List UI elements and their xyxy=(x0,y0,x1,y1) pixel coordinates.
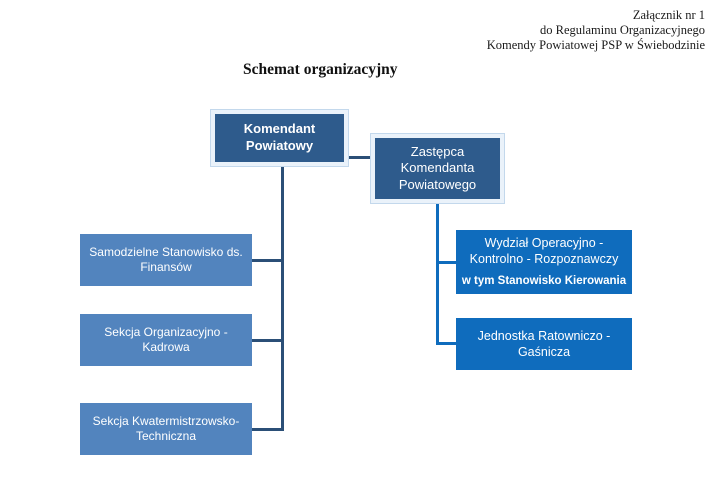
node-operacyjny-sub-line: w tym Stanowisko Kierowania xyxy=(462,274,626,289)
node-komendant-line-2: Powiatowy xyxy=(246,138,313,155)
header-note-line-3: Komendy Powiatowej PSP w Świebodzinie xyxy=(487,38,705,53)
node-komendant-powiatowy[interactable]: Komendant Powiatowy xyxy=(211,110,348,166)
node-jrg-line-1: Jednostka Ratowniczo - xyxy=(478,328,611,344)
node-zastepca-line-2: Komendanta xyxy=(401,160,475,177)
node-zastepca-line-1: Zastępca xyxy=(411,144,464,161)
header-note-line-2: do Regulaminu Organizacyjnego xyxy=(487,23,705,38)
connector-left-trunk xyxy=(281,166,284,431)
node-kadry-line-1: Sekcja Organizacyjno - xyxy=(104,325,227,340)
node-finanse-line-2: Finansów xyxy=(140,260,191,275)
node-kadry-line-2: Kadrowa xyxy=(142,340,189,355)
connector-stub-finanse xyxy=(252,259,284,262)
node-wydzial-operacyjno-kontrolno-rozpoznawczy[interactable]: Wydział Operacyjno - Kontrolno - Rozpozn… xyxy=(456,230,632,294)
header-note: Załącznik nr 1 do Regulaminu Organizacyj… xyxy=(487,8,705,53)
header-note-line-1: Załącznik nr 1 xyxy=(487,8,705,23)
node-sekcja-kwatermistrzowsko-techniczna[interactable]: Sekcja Kwatermistrzowsko- Techniczna xyxy=(80,403,252,455)
connector-stub-operacyjny xyxy=(436,261,458,264)
node-operacyjny-line-1: Wydział Operacyjno - xyxy=(485,235,604,251)
node-operacyjny-line-2: Kontrolno - Rozpoznawczy xyxy=(470,251,619,267)
node-finanse-line-1: Samodzielne Stanowisko ds. xyxy=(89,245,242,260)
connector-stub-jrg xyxy=(436,342,458,345)
connector-right-trunk xyxy=(436,203,439,345)
connector-stub-kwatermistrzowska xyxy=(252,428,284,431)
node-kwatermistrzowska-line-2: Techniczna xyxy=(136,429,196,444)
node-samodzielne-stanowisko-finansow[interactable]: Samodzielne Stanowisko ds. Finansów xyxy=(80,234,252,286)
node-komendant-line-1: Komendant xyxy=(244,121,316,138)
node-jednostka-ratowniczo-gasnicza[interactable]: Jednostka Ratowniczo - Gaśnicza xyxy=(456,318,632,370)
chart-title: Schemat organizacyjny xyxy=(243,61,398,79)
node-sekcja-organizacyjno-kadrowa[interactable]: Sekcja Organizacyjno - Kadrowa xyxy=(80,314,252,366)
node-kwatermistrzowska-line-1: Sekcja Kwatermistrzowsko- xyxy=(93,414,240,429)
org-chart-canvas: Załącznik nr 1 do Regulaminu Organizacyj… xyxy=(0,0,713,491)
node-zastepca-komendanta[interactable]: Zastępca Komendanta Powiatowego xyxy=(371,134,504,203)
node-zastepca-line-3: Powiatowego xyxy=(399,177,476,194)
connector-stub-kadry xyxy=(252,339,284,342)
node-jrg-line-2: Gaśnicza xyxy=(518,344,570,360)
